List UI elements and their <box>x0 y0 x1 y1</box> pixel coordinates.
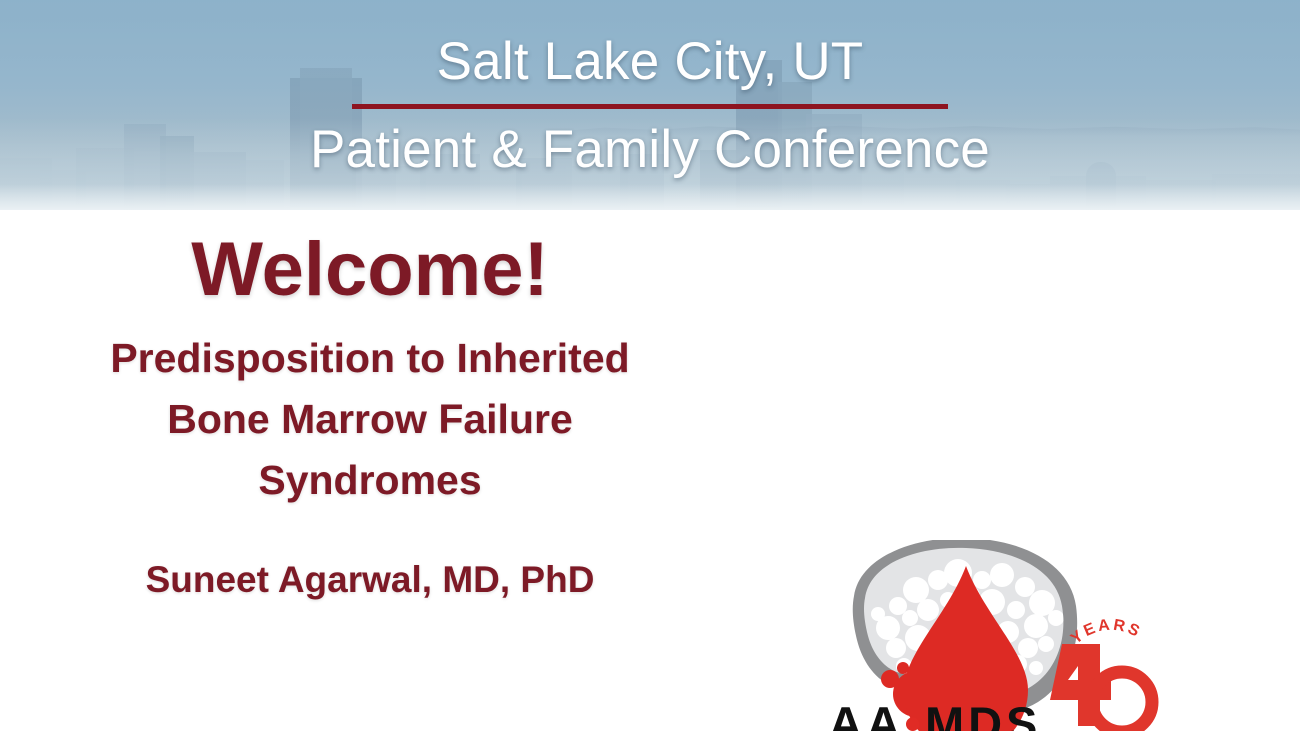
logo-dot-icon: • <box>904 697 924 731</box>
talk-title-line-3: Syndromes <box>20 454 720 507</box>
conference-name: Patient & Family Conference <box>310 123 990 176</box>
title-banner: Salt Lake City, UT Patient & Family Conf… <box>0 0 1300 210</box>
logo-mds: MDS <box>925 697 1041 731</box>
speaker-name: Suneet Agarwal, MD, PhD <box>20 558 720 602</box>
logo-aamds-text: AA•MDS <box>780 700 1090 731</box>
talk-title-line-2: Bone Marrow Failure <box>20 393 720 446</box>
logo-wordmark-block: AA•MDS INTERNATIONAL FOUNDATION ANSWERS … <box>780 700 1090 731</box>
conference-location: Salt Lake City, UT <box>437 35 864 88</box>
svg-text:YEARS: YEARS <box>1068 617 1144 648</box>
aamds-logo: YEARS AA•MDS INTERNATIONAL FOUNDATION AN… <box>770 540 1170 731</box>
slide-body: Welcome! Predisposition to Inherited Bon… <box>0 210 1300 731</box>
slide-text-column: Welcome! Predisposition to Inherited Bon… <box>20 230 720 602</box>
talk-title-line-1: Predisposition to Inherited <box>20 332 720 385</box>
banner-text-block: Salt Lake City, UT Patient & Family Conf… <box>0 0 1300 210</box>
welcome-heading: Welcome! <box>20 230 720 310</box>
logo-aa: AA <box>829 697 905 731</box>
presentation-slide: Salt Lake City, UT Patient & Family Conf… <box>0 0 1300 731</box>
banner-divider <box>352 104 948 109</box>
